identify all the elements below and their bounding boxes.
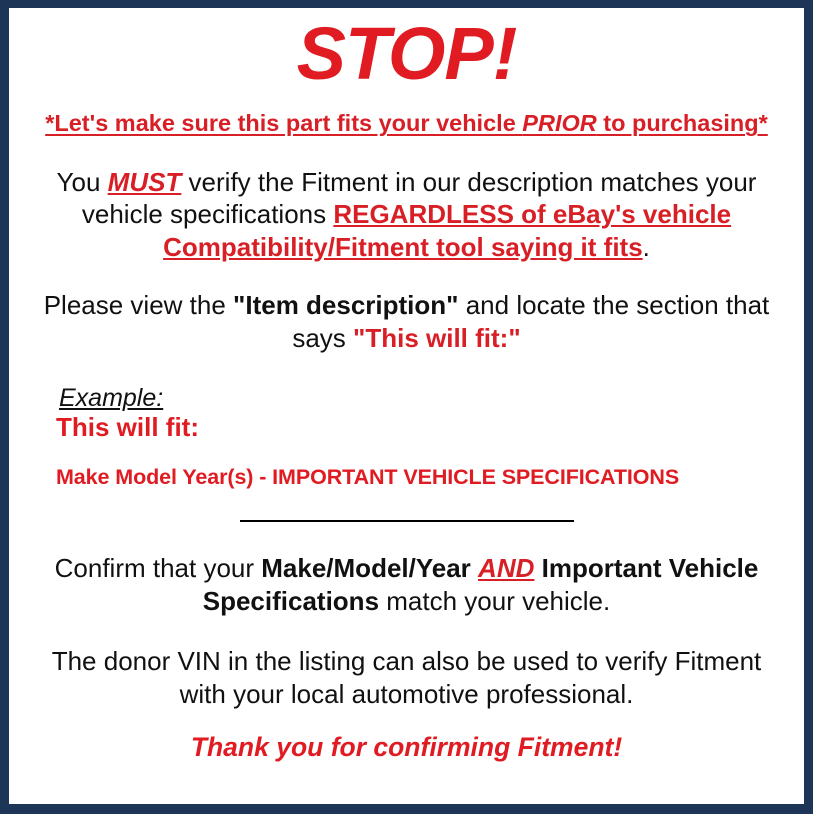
example-block: Example: This will fit: Make Model Year(… bbox=[21, 354, 792, 490]
view-part-1: Please view the bbox=[44, 290, 233, 320]
confirm-paragraph: Confirm that your Make/Model/Year AND Im… bbox=[21, 530, 792, 617]
item-description-emphasis: "Item description" bbox=[233, 290, 458, 320]
tagline-emphasis-prior: PRIOR bbox=[522, 110, 596, 136]
example-label: Example: bbox=[21, 384, 792, 413]
make-model-year-emphasis: Make/Model/Year bbox=[261, 553, 471, 583]
example-fit-heading: This will fit: bbox=[21, 413, 792, 443]
example-spec-line: Make Model Year(s) - IMPORTANT VEHICLE S… bbox=[21, 443, 792, 490]
must-part-1: You bbox=[57, 167, 108, 197]
this-will-fit-emphasis: "This will fit:" bbox=[353, 323, 521, 353]
confirm-part-1: Confirm that your bbox=[55, 553, 262, 583]
view-description-paragraph: Please view the "Item description" and l… bbox=[21, 263, 792, 354]
thanks-message: Thank you for confirming Fitment! bbox=[21, 710, 792, 763]
tagline-before: *Let's make sure this part fits your veh… bbox=[45, 110, 522, 136]
notice-content-area: STOP! *Let's make sure this part fits yo… bbox=[9, 8, 804, 804]
must-part-3: . bbox=[643, 232, 650, 262]
section-divider bbox=[21, 490, 792, 530]
must-emphasis: MUST bbox=[108, 167, 182, 197]
fitment-notice-frame: STOP! *Let's make sure this part fits yo… bbox=[0, 0, 813, 814]
stop-headline: STOP! bbox=[21, 10, 792, 93]
tagline-after: to purchasing* bbox=[597, 110, 768, 136]
tagline: *Let's make sure this part fits your veh… bbox=[21, 93, 792, 137]
must-verify-paragraph: You MUST verify the Fitment in our descr… bbox=[21, 138, 792, 264]
and-emphasis: AND bbox=[478, 553, 534, 583]
confirm-part-2: match your vehicle. bbox=[379, 586, 610, 616]
divider-rule bbox=[240, 520, 574, 522]
vin-paragraph: The donor VIN in the listing can also be… bbox=[21, 617, 792, 710]
